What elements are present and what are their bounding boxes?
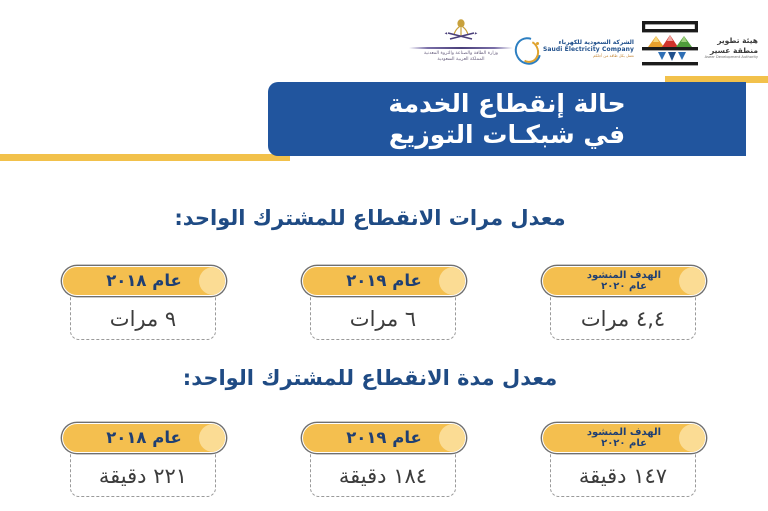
stat-card-pill: الهدف المنشود عام ٢٠٢٠	[542, 423, 706, 453]
stats-row-outage-frequency: الهدف المنشود عام ٢٠٢٠ ٤,٤ مرات عام ٢٠١٩…	[0, 266, 768, 348]
aseer-name-english: Aseer Development Authority	[705, 55, 758, 59]
stat-card-pill: عام ٢٠١٨	[62, 266, 226, 296]
saudi-electricity-company-logo: الشركة السعودية للكهرباء Saudi Electrici…	[512, 32, 634, 66]
ministry-name-line-2: المملكة العربية السعودية	[405, 57, 517, 63]
stat-card-value: ١٤٧ دقيقة	[550, 463, 696, 489]
stat-card-value: ١٨٤ دقيقة	[310, 463, 456, 489]
saudi-swords-palm-emblem	[405, 16, 517, 46]
banner-title-line-2: في شبكـات التوزيع	[389, 119, 625, 150]
stat-card-pill: عام ٢٠١٨	[62, 423, 226, 453]
sec-ring-icon	[514, 35, 540, 63]
stat-card-pill-label: عام ٢٠١٨	[106, 272, 182, 290]
aseer-development-authority-logo: هيئة تطوير منطقة عسير Aseer Development …	[630, 18, 758, 70]
stat-card-year-2018: عام ٢٠١٨ ٢٢١ دقيقة	[60, 423, 228, 503]
stat-card-year-2018: عام ٢٠١٨ ٩ مرات	[60, 266, 228, 346]
stat-card-pill-label-1: الهدف المنشود	[587, 427, 661, 439]
stat-card-pill: عام ٢٠١٩	[302, 423, 466, 453]
stat-card-pill-label: عام ٢٠١٨	[106, 429, 182, 447]
stat-card-pill-label-2: عام ٢٠٢٠	[601, 438, 647, 450]
ministry-divider-rule	[409, 47, 513, 49]
ministry-of-energy-logo: وزارة الطاقة والصناعة والثروة المعدنية ا…	[405, 16, 517, 72]
stat-card-value: ٩ مرات	[70, 306, 216, 332]
stat-card-year-2019: عام ٢٠١٩ ٦ مرات	[300, 266, 468, 346]
decor-bar-bottom-left	[0, 154, 290, 161]
sec-logo-text: الشركة السعودية للكهرباء Saudi Electrici…	[543, 40, 634, 58]
main-title-banner: حالة إنقطاع الخدمة في شبكـات التوزيع	[268, 82, 746, 156]
stat-card-value: ٢٢١ دقيقة	[70, 463, 216, 489]
section-heading-outage-duration: معدل مدة الانقطاع للمشترك الواحد:	[0, 366, 740, 390]
stat-card-target-2020: الهدف المنشود عام ٢٠٢٠ ١٤٧ دقيقة	[540, 423, 708, 503]
stat-card-pill-label: عام ٢٠١٩	[346, 429, 422, 447]
stats-row-outage-duration: الهدف المنشود عام ٢٠٢٠ ١٤٧ دقيقة عام ٢٠١…	[0, 423, 768, 505]
stat-card-pill: عام ٢٠١٩	[302, 266, 466, 296]
stat-card-value: ٦ مرات	[310, 306, 456, 332]
stat-card-pill: الهدف المنشود عام ٢٠٢٠	[542, 266, 706, 296]
aseer-name-line-1: هيئة تطوير	[705, 36, 758, 45]
stat-card-value: ٤,٤ مرات	[550, 306, 696, 332]
aseer-logo-text: هيئة تطوير منطقة عسير Aseer Development …	[705, 28, 758, 59]
stat-card-target-2020: الهدف المنشود عام ٢٠٢٠ ٤,٤ مرات	[540, 266, 708, 346]
stat-card-pill-label: عام ٢٠١٩	[346, 272, 422, 290]
header-logo-strip: وزارة الطاقة والصناعة والثروة المعدنية ا…	[0, 0, 768, 82]
sec-tagline: نعمل بكل طاقة من أجلكم	[543, 54, 634, 58]
stat-card-pill-label-2: عام ٢٠٢٠	[601, 281, 647, 293]
section-heading-outage-frequency: معدل مرات الانقطاع للمشترك الواحد:	[0, 206, 740, 230]
aseer-mountains-icon	[640, 20, 700, 68]
aseer-name-line-2: منطقة عسير	[705, 46, 758, 55]
banner-title-line-1: حالة إنقطاع الخدمة	[388, 88, 625, 119]
stat-card-year-2019: عام ٢٠١٩ ١٨٤ دقيقة	[300, 423, 468, 503]
stat-card-pill-label-1: الهدف المنشود	[587, 270, 661, 282]
